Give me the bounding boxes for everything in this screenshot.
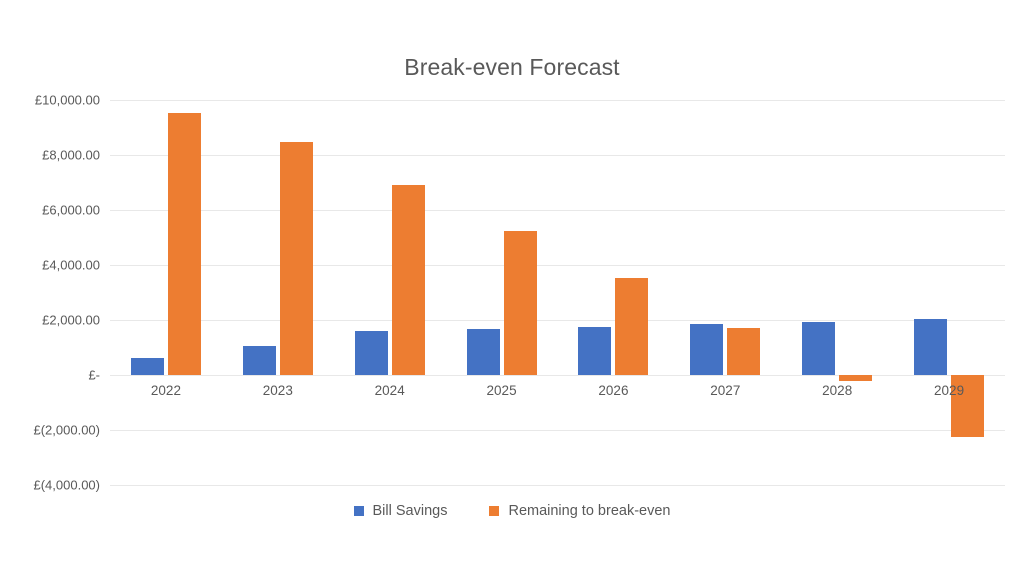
x-axis-tick-label-2027: 2027 — [710, 383, 740, 398]
legend-item-remaining-to-break-even[interactable]: Remaining to break-even — [489, 503, 670, 519]
gridline — [110, 320, 1005, 321]
bar-bill-savings-2026[interactable] — [578, 327, 611, 375]
y-axis-tick-label: £2,000.00 — [0, 313, 100, 328]
legend-item-label: Bill Savings — [373, 503, 448, 519]
bar-remaining-to-break-even-2023[interactable] — [280, 142, 313, 375]
bar-bill-savings-2025[interactable] — [467, 329, 500, 375]
legend-item-label: Remaining to break-even — [508, 503, 670, 519]
x-axis-tick-label-2029: 2029 — [934, 383, 964, 398]
bar-bill-savings-2024[interactable] — [355, 331, 388, 375]
x-axis-tick-label-2026: 2026 — [598, 383, 628, 398]
y-axis-tick-label: £4,000.00 — [0, 258, 100, 273]
gridline — [110, 485, 1005, 486]
legend-swatch-bill-savings — [354, 506, 364, 516]
x-axis-tick-label-2028: 2028 — [822, 383, 852, 398]
bar-bill-savings-2022[interactable] — [131, 358, 164, 375]
legend-swatch-remaining — [489, 506, 499, 516]
y-axis-tick-label: £(2,000.00) — [0, 423, 100, 438]
plot-area — [110, 100, 1005, 485]
y-axis-tick-label: £- — [0, 368, 100, 383]
bar-bill-savings-2028[interactable] — [802, 322, 835, 375]
y-axis-tick-label: £(4,000.00) — [0, 478, 100, 493]
y-axis-tick-label: £10,000.00 — [0, 93, 100, 108]
legend-item-bill-savings[interactable]: Bill Savings — [354, 503, 448, 519]
chart-title: Break-even Forecast — [0, 54, 1024, 81]
bar-remaining-to-break-even-2028[interactable] — [839, 375, 872, 381]
bar-bill-savings-2023[interactable] — [243, 346, 276, 375]
bar-remaining-to-break-even-2027[interactable] — [727, 328, 760, 375]
gridline — [110, 155, 1005, 156]
bar-bill-savings-2029[interactable] — [914, 319, 947, 375]
gridline — [110, 100, 1005, 101]
chart-container: Break-even Forecast £10,000.00£8,000.00£… — [0, 0, 1024, 576]
gridline — [110, 430, 1005, 431]
y-axis-tick-label: £8,000.00 — [0, 148, 100, 163]
bar-remaining-to-break-even-2024[interactable] — [392, 185, 425, 375]
bar-remaining-to-break-even-2026[interactable] — [615, 278, 648, 375]
x-axis-tick-label-2023: 2023 — [263, 383, 293, 398]
bar-bill-savings-2027[interactable] — [690, 324, 723, 375]
gridline — [110, 210, 1005, 211]
bar-remaining-to-break-even-2025[interactable] — [504, 231, 537, 375]
x-axis-tick-label-2022: 2022 — [151, 383, 181, 398]
y-axis: £10,000.00£8,000.00£6,000.00£4,000.00£2,… — [0, 100, 100, 485]
chart-legend: Bill SavingsRemaining to break-even — [0, 503, 1024, 519]
gridline — [110, 265, 1005, 266]
y-axis-tick-label: £6,000.00 — [0, 203, 100, 218]
bar-remaining-to-break-even-2022[interactable] — [168, 113, 201, 375]
x-axis: 20222023202420252026202720282029 — [110, 383, 1005, 407]
x-axis-tick-label-2025: 2025 — [487, 383, 517, 398]
x-axis-tick-label-2024: 2024 — [375, 383, 405, 398]
